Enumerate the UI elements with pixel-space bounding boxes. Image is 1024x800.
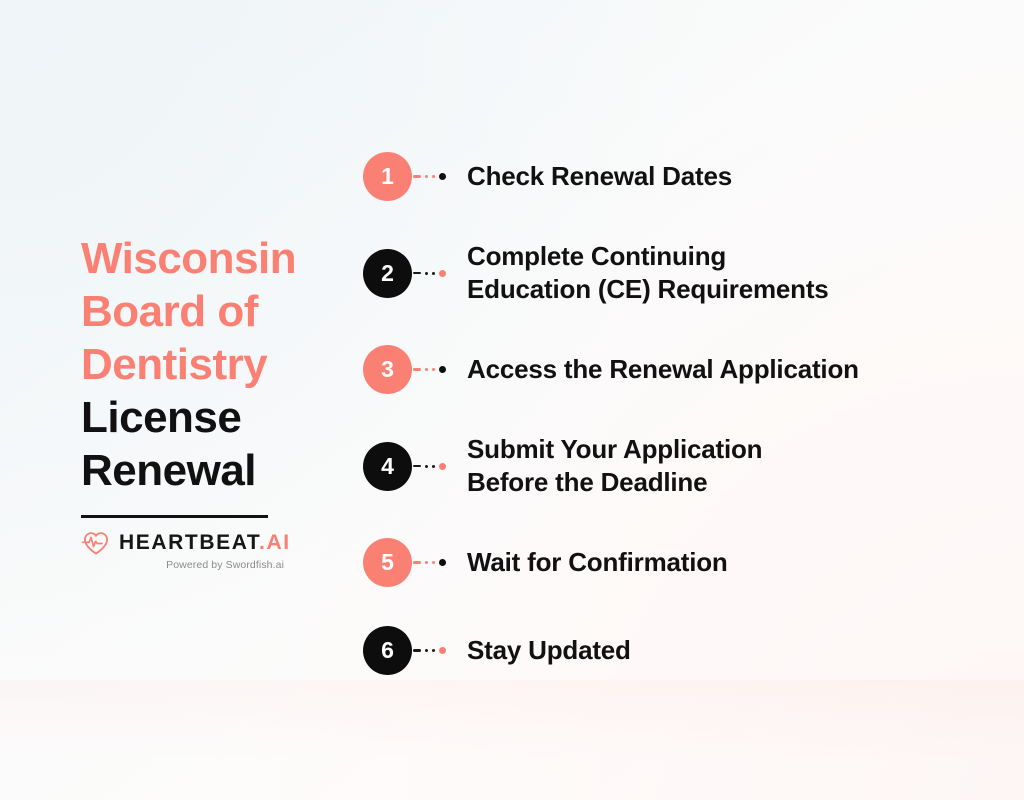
- title-line-doc-2: Renewal: [81, 444, 321, 497]
- step-badge-2: 2: [363, 249, 412, 298]
- connector-dot-large-icon: [439, 366, 446, 373]
- connector-dot-small-icon: [425, 272, 428, 275]
- step-badge-6: 6: [363, 626, 412, 675]
- steps-list: 1 Check Renewal Dates 2 Complete Continu…: [363, 152, 983, 675]
- connector-dot-large-icon: [439, 173, 446, 180]
- step-label-1: Check Renewal Dates: [467, 160, 732, 193]
- brand-logo: HEARTBEAT.AI Powered by Swordfish.ai: [81, 530, 291, 571]
- connector-dot-large-icon: [439, 270, 446, 277]
- connector-dot-small-icon: [425, 368, 428, 371]
- step-label-line: Check Renewal Dates: [467, 160, 732, 193]
- step-item-1: 1 Check Renewal Dates: [363, 152, 983, 201]
- connector-dot-small-icon: [432, 368, 435, 371]
- page-title: Wisconsin Board of Dentistry License Ren…: [81, 232, 321, 497]
- logo-tagline: Powered by Swordfish.ai: [81, 559, 284, 571]
- step-badge-3: 3: [363, 345, 412, 394]
- connector-dot-small-icon: [425, 561, 428, 564]
- step-label-line: Access the Renewal Application: [467, 353, 859, 386]
- step-badge-4: 4: [363, 442, 412, 491]
- connector-dot-large-icon: [439, 647, 446, 654]
- connector-dash-icon: [413, 561, 421, 564]
- connector-dot-small-icon: [425, 649, 428, 652]
- title-line-board-1: Wisconsin: [81, 232, 321, 285]
- title-line-doc-1: License: [81, 391, 321, 444]
- connector-dot-small-icon: [432, 272, 435, 275]
- step-label-line: Complete Continuing: [467, 240, 829, 273]
- connector-dot-small-icon: [432, 561, 435, 564]
- title-panel: Wisconsin Board of Dentistry License Ren…: [81, 232, 321, 571]
- step-connector-4: [413, 463, 458, 470]
- step-label-4: Submit Your Application Before the Deadl…: [467, 433, 762, 499]
- infographic-poster: Wisconsin Board of Dentistry License Ren…: [0, 0, 1024, 800]
- step-label-line: Stay Updated: [467, 634, 631, 667]
- connector-dash-icon: [413, 175, 421, 178]
- connector-dash-icon: [413, 368, 421, 371]
- step-badge-5: 5: [363, 538, 412, 587]
- step-item-6: 6 Stay Updated: [363, 626, 983, 675]
- step-label-6: Stay Updated: [467, 634, 631, 667]
- step-connector-2: [413, 270, 458, 277]
- step-connector-1: [413, 173, 458, 180]
- heartbeat-heart-icon: [81, 530, 111, 556]
- title-line-board-3: Dentistry: [81, 338, 321, 391]
- step-label-2: Complete Continuing Education (CE) Requi…: [467, 240, 829, 306]
- step-item-3: 3 Access the Renewal Application: [363, 345, 983, 394]
- step-label-line: Wait for Confirmation: [467, 546, 728, 579]
- connector-dash-icon: [413, 649, 421, 652]
- step-label-line: Submit Your Application: [467, 433, 762, 466]
- connector-dot-large-icon: [439, 559, 446, 566]
- connector-dot-large-icon: [439, 463, 446, 470]
- step-label-line: Before the Deadline: [467, 466, 762, 499]
- step-item-4: 4 Submit Your Application Before the Dea…: [363, 433, 983, 499]
- step-label-5: Wait for Confirmation: [467, 546, 728, 579]
- background-watermark-band: [0, 680, 1024, 760]
- logo-wordmark: HEARTBEAT.AI: [119, 531, 291, 555]
- step-label-line: Education (CE) Requirements: [467, 273, 829, 306]
- connector-dash-icon: [413, 272, 421, 275]
- step-item-2: 2 Complete Continuing Education (CE) Req…: [363, 240, 983, 306]
- logo-row: HEARTBEAT.AI: [81, 530, 291, 556]
- title-line-board-2: Board of: [81, 285, 321, 338]
- connector-dot-small-icon: [425, 175, 428, 178]
- step-connector-6: [413, 647, 458, 654]
- logo-wordmark-tld: .AI: [259, 531, 291, 554]
- step-badge-1: 1: [363, 152, 412, 201]
- logo-wordmark-main: HEARTBEAT: [119, 531, 259, 554]
- connector-dot-small-icon: [432, 175, 435, 178]
- connector-dot-small-icon: [425, 465, 428, 468]
- step-item-5: 5 Wait for Confirmation: [363, 538, 983, 587]
- connector-dot-small-icon: [432, 465, 435, 468]
- connector-dash-icon: [413, 465, 421, 468]
- step-label-3: Access the Renewal Application: [467, 353, 859, 386]
- step-connector-3: [413, 366, 458, 373]
- step-connector-5: [413, 559, 458, 566]
- connector-dot-small-icon: [432, 649, 435, 652]
- title-divider: [81, 515, 268, 518]
